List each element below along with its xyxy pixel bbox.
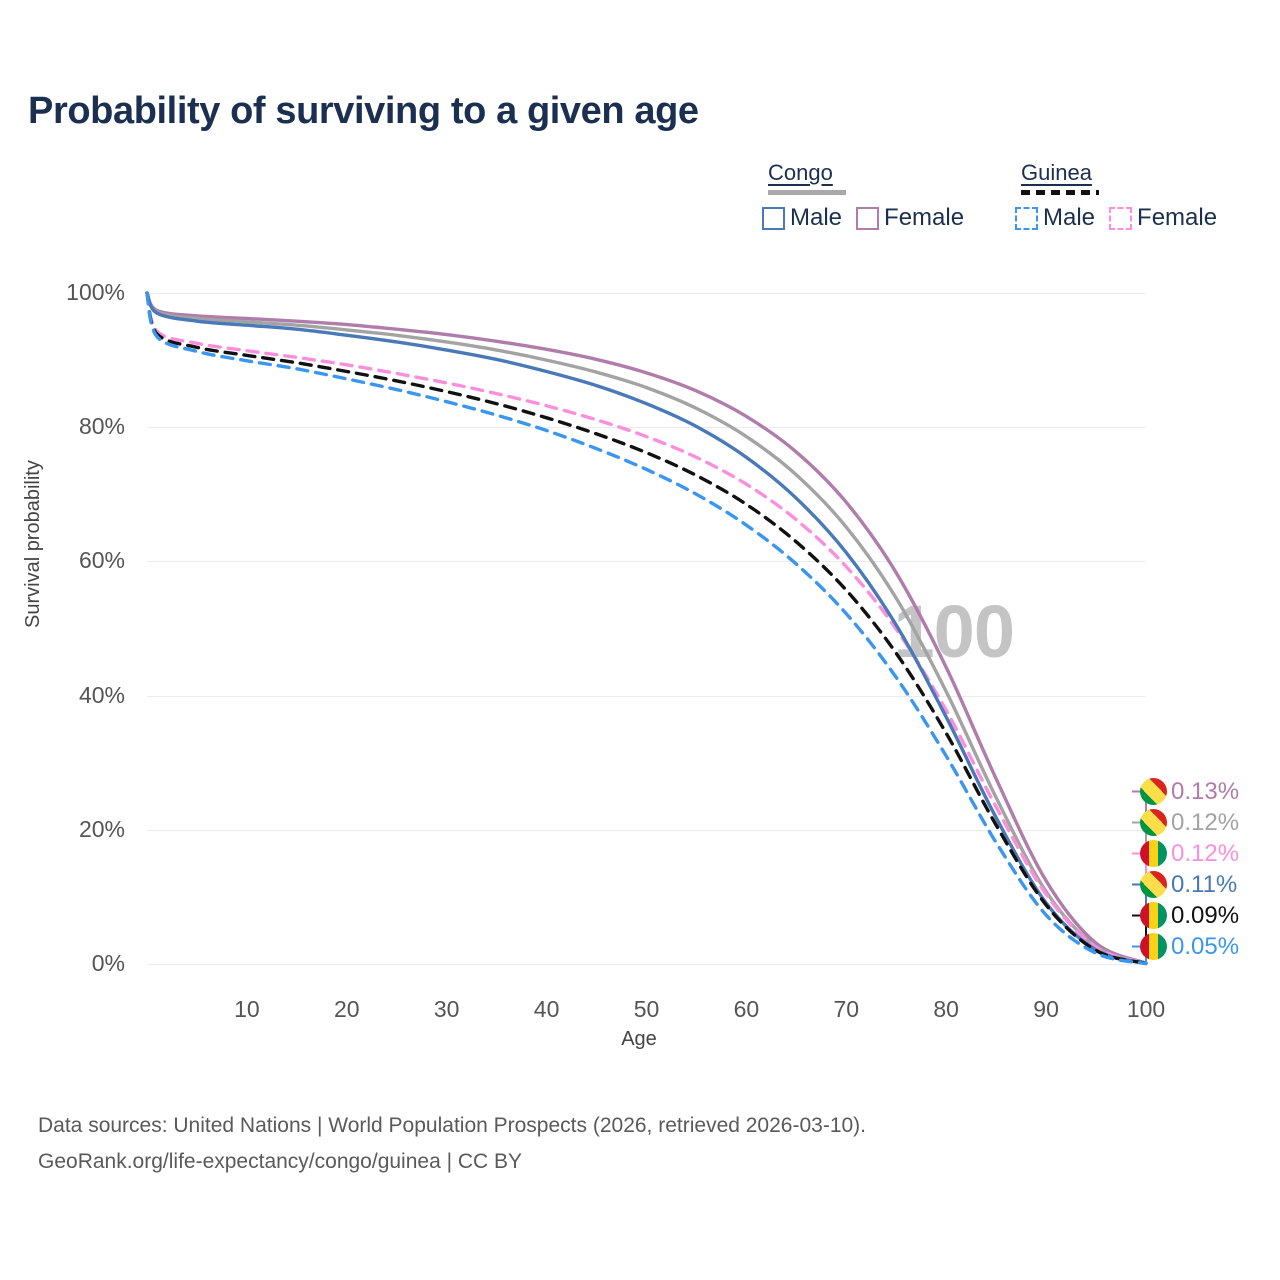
legend-group-guinea: Guinea Male Female [1015,160,1217,232]
end-label-value: 0.11% [1171,871,1237,899]
x-axis-title: Age [621,1028,657,1051]
legend-country-congo: Congo [762,160,964,186]
end-value-labels: 0.13%0.12%0.12%0.11%0.09%0.05% [1140,776,1280,962]
flag-icon-congo [1140,871,1167,898]
end-label-value: 0.09% [1171,902,1239,930]
flag-icon-guinea [1140,933,1167,960]
x-tick-label: 40 [534,996,560,1023]
x-tick-label: 100 [1127,996,1165,1023]
x-tick-label: 10 [234,996,260,1023]
chart-legend: Congo Male Female Guinea Male [760,160,1260,244]
legend-swatch-congo-female [856,207,879,230]
legend-item-guinea-male[interactable]: Male [1015,204,1095,232]
flag-icon-guinea [1140,840,1167,867]
x-tick-label: 20 [334,996,360,1023]
chart-root: Probability of surviving to a given age … [0,0,1280,1280]
legend-label-guinea-male: Male [1043,204,1095,232]
x-tick-label: 80 [933,996,959,1023]
legend-country-guinea: Guinea [1015,160,1217,186]
end-label-value: 0.05% [1171,933,1239,961]
x-tick-label: 70 [834,996,860,1023]
footer: Data sources: United Nations | World Pop… [38,1108,866,1180]
legend-group-congo: Congo Male Female [762,160,964,232]
flag-icon-guinea [1140,902,1167,929]
y-tick-label: 60% [79,547,125,574]
end-label-value: 0.13% [1171,778,1239,806]
legend-label-congo-female: Female [884,204,964,232]
end-label-row[interactable]: 0.09% [1140,900,1280,931]
end-label-row[interactable]: 0.05% [1140,931,1280,962]
legend-rule-congo [768,190,846,195]
y-tick-label: 40% [79,682,125,709]
y-tick-label: 100% [66,279,125,306]
end-label-row[interactable]: 0.11% [1140,869,1280,900]
legend-item-congo-female[interactable]: Female [856,204,964,232]
y-tick-label: 0% [92,950,125,977]
y-tick-label: 80% [79,413,125,440]
legend-swatch-congo-male [762,207,785,230]
legend-swatch-guinea-female [1109,207,1132,230]
end-label-row[interactable]: 0.13% [1140,776,1280,807]
end-label-value: 0.12% [1171,840,1239,868]
leader-lines [147,293,1146,964]
legend-label-guinea-female: Female [1137,204,1217,232]
footer-line-sources: Data sources: United Nations | World Pop… [38,1108,866,1144]
end-label-row[interactable]: 0.12% [1140,807,1280,838]
end-label-value: 0.12% [1171,809,1239,837]
legend-label-congo-male: Male [790,204,842,232]
x-tick-label: 90 [1033,996,1059,1023]
legend-rule-guinea [1021,190,1099,195]
x-tick-label: 60 [734,996,760,1023]
flag-icon-congo [1140,809,1167,836]
plot-area: 100 [147,293,1146,964]
legend-swatch-guinea-male [1015,207,1038,230]
x-tick-label: 50 [634,996,660,1023]
legend-item-congo-male[interactable]: Male [762,204,842,232]
gridline [147,964,1146,965]
flag-icon-congo [1140,778,1167,805]
y-tick-label: 20% [79,816,125,843]
y-axis-title: Survival probability [22,460,45,628]
end-label-row[interactable]: 0.12% [1140,838,1280,869]
page-title: Probability of surviving to a given age [28,90,699,133]
legend-item-guinea-female[interactable]: Female [1109,204,1217,232]
x-tick-label: 30 [434,996,460,1023]
footer-line-attribution: GeoRank.org/life-expectancy/congo/guinea… [38,1144,866,1180]
